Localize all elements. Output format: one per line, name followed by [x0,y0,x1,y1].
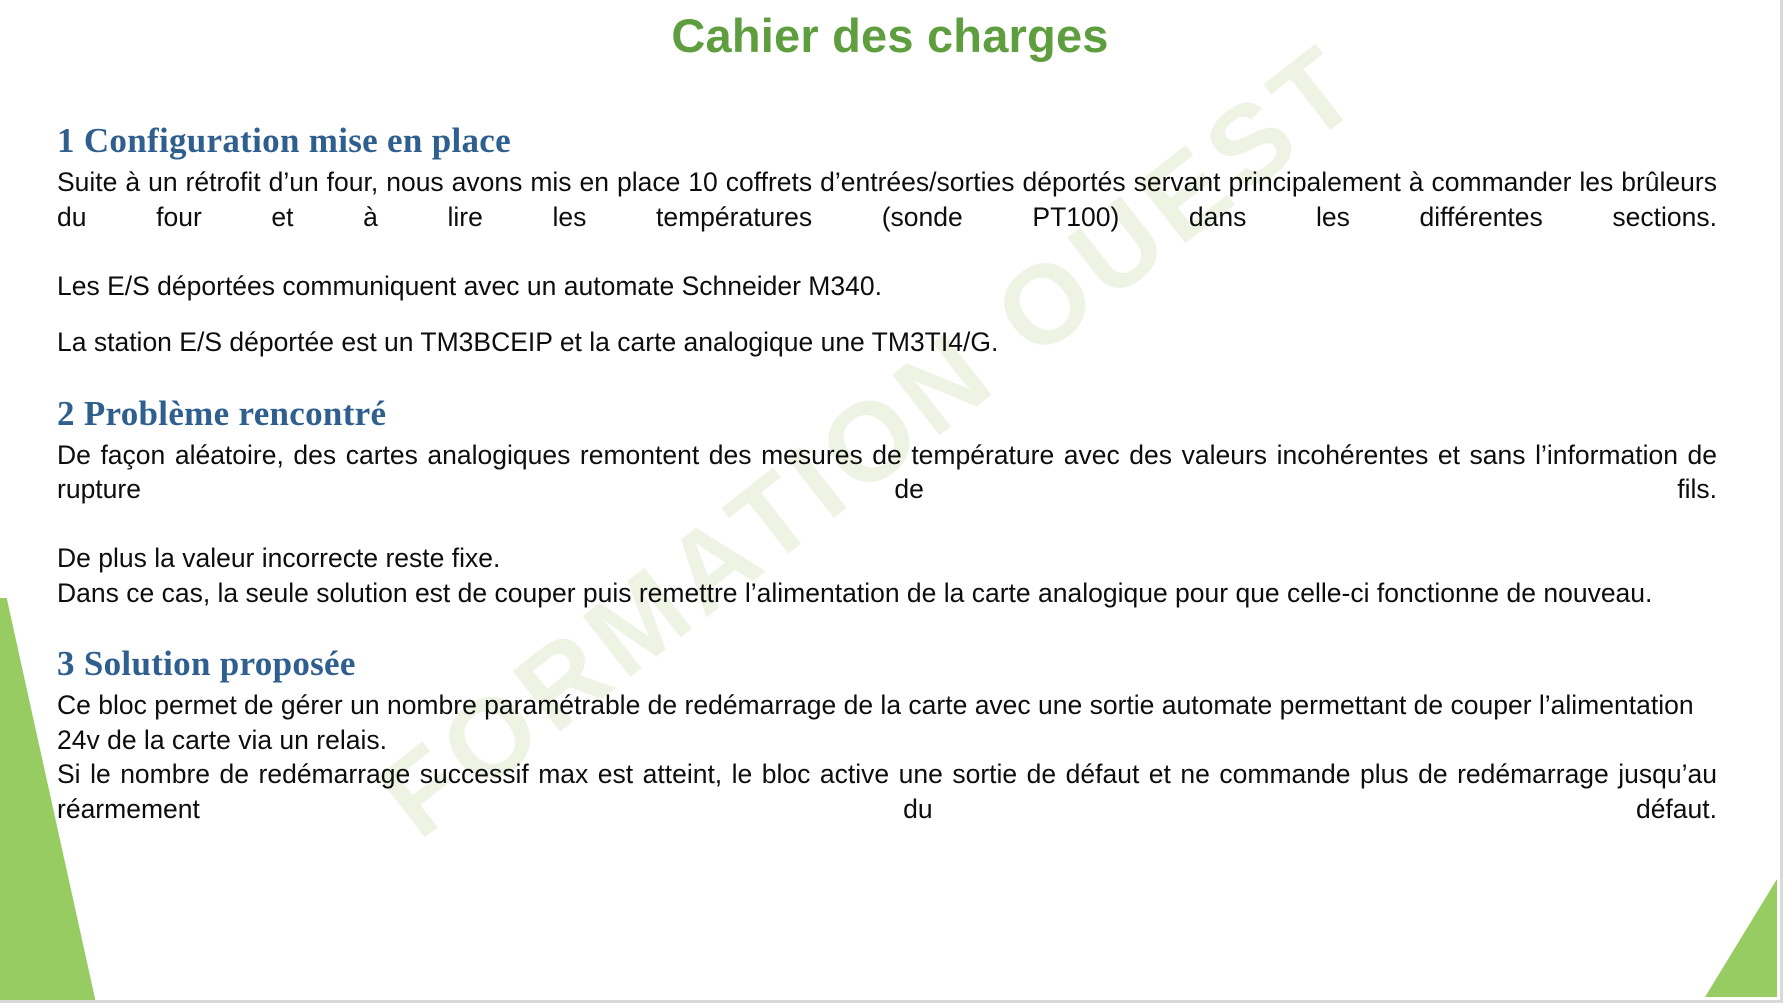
section-3-paragraph-1: Ce bloc permet de gérer un nombre paramé… [57,688,1717,757]
section-1-paragraph-3: La station E/S déportée est un TM3BCEIP … [57,325,1717,360]
body-area: 1 Configuration mise en place Suite à un… [0,121,1780,861]
section-1-paragraph-1: Suite à un rétrofit d’un four, nous avon… [57,165,1717,269]
page-title: Cahier des charges [0,0,1780,63]
section-probleme: 2 Problème rencontré De façon aléatoire,… [57,394,1717,611]
section-configuration: 1 Configuration mise en place Suite à un… [57,121,1717,360]
section-1-heading: 1 Configuration mise en place [57,121,1717,161]
section-2-heading: 2 Problème rencontré [57,394,1717,434]
section-2-paragraph-3: Dans ce cas, la seule solution est de co… [57,576,1717,611]
slide-canvas: FORMATION OUEST Cahier des charges 1 Con… [0,0,1783,1003]
decorative-green-wedge-right [1705,879,1777,997]
section-1-paragraph-2: Les E/S déportées communiquent avec un a… [57,269,1717,304]
section-3-heading: 3 Solution proposée [57,644,1717,684]
section-solution: 3 Solution proposée Ce bloc permet de gé… [57,644,1717,861]
slide-content: Cahier des charges 1 Configuration mise … [0,0,1780,861]
section-2-paragraph-2: De plus la valeur incorrecte reste fixe. [57,541,1717,576]
section-3-paragraph-2: Si le nombre de redémarrage successif ma… [57,757,1717,861]
section-2-paragraph-1: De façon aléatoire, des cartes analogiqu… [57,438,1717,542]
